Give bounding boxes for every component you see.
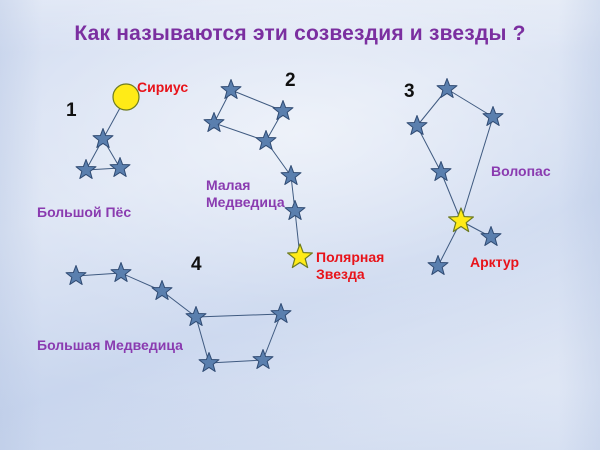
bright-star-marker	[288, 244, 313, 268]
star-marker	[204, 113, 224, 132]
star-marker	[407, 116, 427, 135]
constellation-stars-layer	[66, 79, 503, 372]
star-label-sirius: Сириус	[137, 79, 188, 96]
constellation-label-ursa-minor: Малая Медведица	[206, 177, 285, 210]
star-marker	[256, 131, 276, 150]
star-marker	[253, 350, 273, 369]
constellation-number-4: 4	[191, 254, 202, 276]
star-marker	[481, 227, 501, 246]
constellation-line	[196, 314, 281, 317]
constellation-line	[461, 117, 493, 221]
constellation-lines-layer	[76, 89, 493, 363]
star-marker	[483, 107, 503, 126]
constellation-label-canis-major: Большой Пёс	[37, 204, 131, 221]
star-marker	[431, 162, 451, 181]
constellation-line	[196, 317, 209, 363]
constellation-line	[447, 89, 493, 117]
star-marker	[111, 263, 131, 282]
constellation-line	[263, 314, 281, 360]
star-marker	[428, 256, 448, 275]
constellation-number-2: 2	[285, 70, 296, 92]
bright-star-marker	[113, 84, 139, 110]
constellation-number-3: 3	[404, 81, 415, 103]
constellation-line	[441, 172, 461, 221]
star-marker	[186, 307, 206, 326]
star-marker	[93, 129, 113, 148]
star-marker	[221, 80, 241, 99]
star-marker	[437, 79, 457, 98]
constellation-label-ursa-major: Большая Медведица	[37, 337, 183, 354]
star-marker	[285, 201, 305, 220]
slide-canvas: Как называются эти созвездия и звезды ? …	[0, 0, 600, 450]
constellation-number-1: 1	[66, 100, 77, 122]
bright-star-marker	[449, 208, 474, 232]
star-label-polaris: Полярная Звезда	[316, 249, 384, 282]
star-marker	[76, 160, 96, 179]
page-title: Как называются эти созвездия и звезды ?	[0, 22, 600, 46]
star-marker	[199, 353, 219, 372]
star-label-arcturus: Арктур	[470, 254, 519, 271]
constellation-label-bootes: Волопас	[491, 163, 551, 180]
star-marker	[110, 158, 130, 177]
constellation-map	[0, 0, 600, 450]
star-marker	[271, 304, 291, 323]
star-marker	[273, 101, 293, 120]
star-marker	[66, 266, 86, 285]
